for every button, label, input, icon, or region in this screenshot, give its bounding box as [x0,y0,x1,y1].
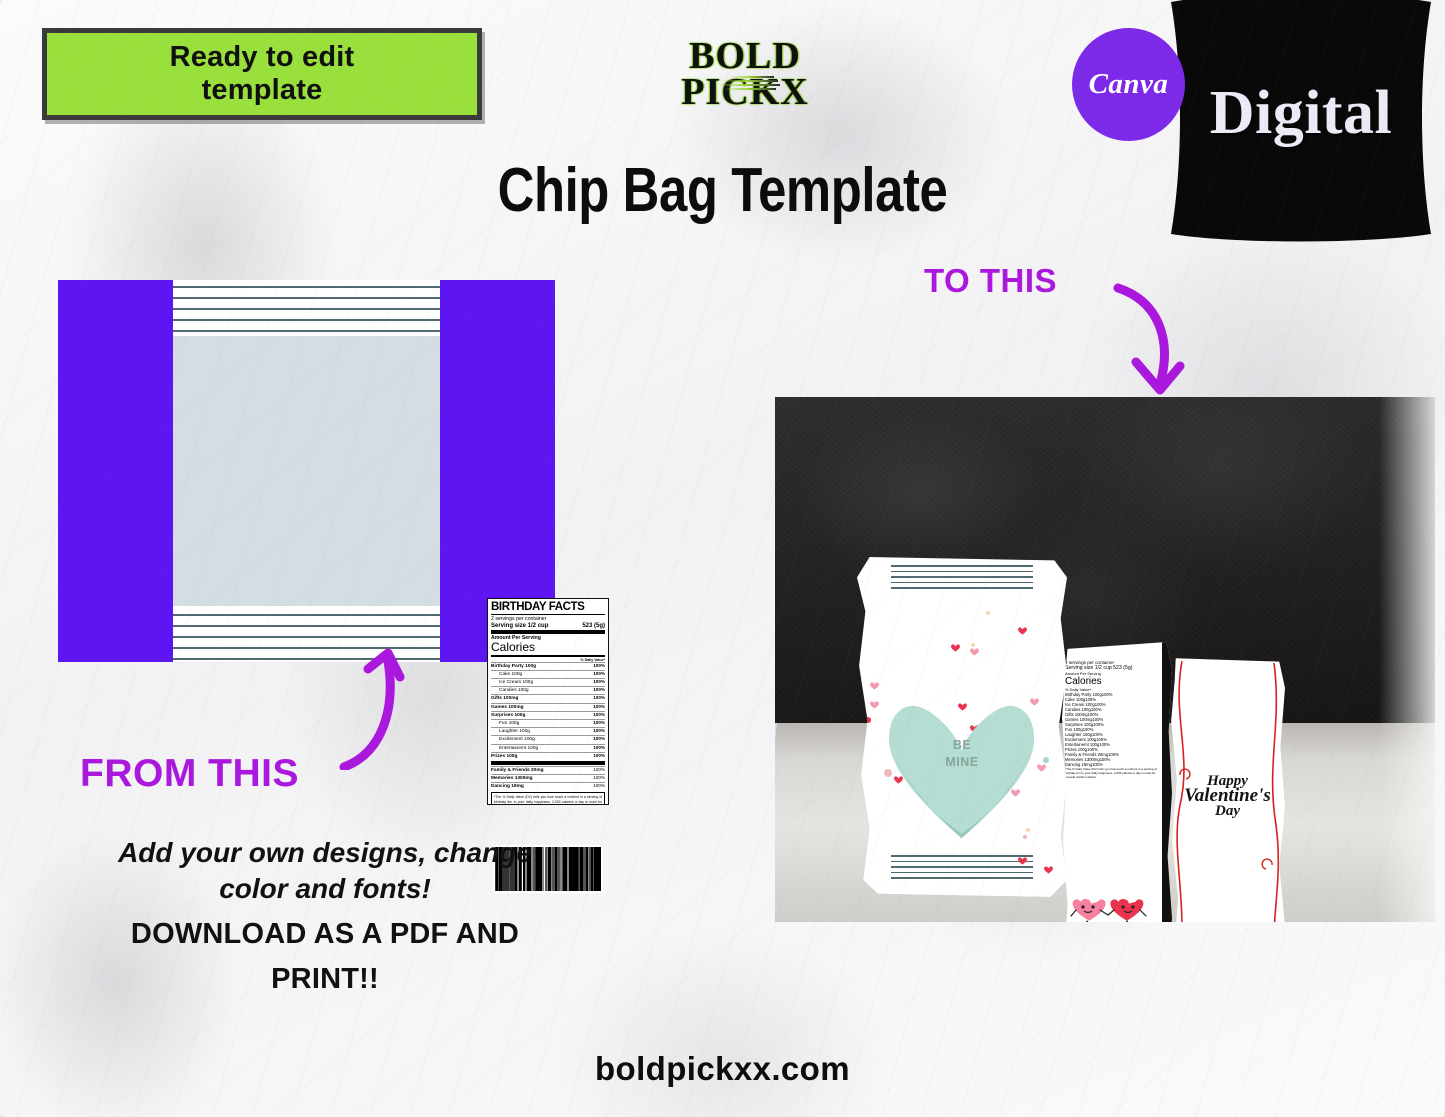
servings-per-container: 2 servings per container [491,616,605,623]
nutrition-row-value: 100% [593,775,605,782]
bag-nutrition-rows-secondary: Family & Friends 20mg100%Memories 1300mg… [1065,752,1165,767]
from-this-label: FROM THIS [80,752,299,796]
nutrition-row-value: 100% [593,704,605,711]
badge-line-1: Ready to edit [170,41,355,74]
nutrition-row-value: 100% [593,720,605,727]
bag-nutrition-footnote: *The % Daily Value (DV) tells you how mu… [1065,767,1165,779]
nutrition-row: Games 100mg100% [491,703,605,711]
nutrition-row-value: 100% [593,687,605,694]
nutrition-row-value: 100% [593,753,605,760]
copy-plain-line-2: PRINT!! [40,961,610,999]
nutrition-row-value: 100% [593,679,605,686]
nutrition-row: Family & Friends 20mg100% [491,766,605,774]
digital-badge-label: Digital [1165,78,1437,149]
nutrition-row-name: Games 100mg [491,704,524,711]
logo-swoosh-icon [714,76,784,98]
brand-logo-line-1: BOLD [640,38,850,74]
badge-line-2: template [170,74,355,107]
page-title: Chip Bag Template [130,155,1315,226]
nutrition-row: Laughter 100g100% [491,727,605,735]
candy-heart-line-2: MINE [857,754,1067,771]
to-this-label: TO THIS [924,262,1057,300]
confetti-heart-icon [870,696,879,704]
candy-heart-text: BE MINE [857,737,1067,771]
copy-plain-line-1: DOWNLOAD AS A PDF AND [40,916,610,954]
nutrition-row-value: 100% [1102,692,1113,697]
nutrition-row-value: 100% [593,728,605,735]
nutrition-row: Cake 100g100% [491,670,605,678]
nutrition-row-value: 100% [593,745,605,752]
serving-size-value: 523 (5g) [582,623,605,629]
confetti-heart-icon [1018,622,1027,630]
nutrition-row-value: 100% [593,663,605,670]
flat-chip-bag-template: BIRTHDAY FACTS 2 servings per container … [58,280,555,662]
nutrition-row-value: 100% [1093,722,1104,727]
nutrition-row: Excitement 100g100% [491,735,605,743]
mockup-bag-front: BE MINE [857,557,1067,897]
nutrition-row-name: Fun 100g [491,720,519,727]
nutrition-title: BIRTHDAY FACTS [491,601,605,613]
mockup-rim-light [1379,397,1435,922]
confetti-heart-icon [870,677,879,685]
nutrition-row-name: Family & Friends 20mg [491,767,544,774]
nutrition-row-value: 100% [593,783,605,790]
nutrition-row-name: Ice Cream 100g [491,679,533,686]
nutrition-row: Gifts 100mg100% [491,694,605,702]
heart-characters-icon [1070,895,1150,922]
mockup-bag-back: 2 servings per container Serving size 1/… [1062,642,1172,922]
nutrition-row-value: 100% [593,767,605,774]
nutrition-row-name: Gifts 100mg [491,695,518,702]
stripe-band-top [173,280,440,336]
nutrition-row-name: Birthday Party 100g [491,663,536,670]
nutrition-row: Birthday Party 100g100% [491,662,605,670]
nutrition-row-value: 100% [593,736,605,743]
confetti-heart-icon [1044,861,1053,869]
bag-calories-label: Calories [1065,676,1165,687]
nutrition-row-name: Surprises 100g [491,712,525,719]
template-center-panel [173,336,440,606]
nutrition-row-name: Entertainemt 100g [491,745,538,752]
nutrition-rows-primary: Birthday Party 100g100%Cake 100g100%Ice … [491,662,605,760]
nutrition-row-value: 100% [593,712,605,719]
valentine-line-3: Day [1174,804,1281,818]
nutrition-row: Memories 1300mg100% [491,774,605,782]
bag-back-nutrition-panel: 2 servings per container Serving size 1/… [1065,660,1165,860]
front-bag-stripes-bottom [891,855,1034,883]
nutrition-row-name: Memories 1300mg [491,775,533,782]
confetti-dot [986,611,990,615]
nutrition-row: Ice Cream 100g100% [491,678,605,686]
nutrition-row-name: Prizes 100g [491,753,517,760]
nutrition-row-value: 100% [593,671,605,678]
confetti-heart-icon [1018,852,1027,860]
calories-label: Calories [491,641,605,654]
nutrition-row-name: Dancing 18mg [491,783,524,790]
arrow-to-this-icon [1110,280,1200,395]
bag-nutrition-rows-primary: Birthday Party 100g100%Cake 100g100%Ice … [1065,692,1165,752]
nutrition-row-value: 100% [1099,742,1110,747]
description-copy: Add your own designs, change color and f… [40,835,610,999]
candy-heart-icon [886,700,1037,843]
page-background: Ready to edit template BOLD PICKX Digita… [0,0,1445,1117]
front-bag-stripes-top [891,565,1034,593]
product-mockup-photo: 2 servings per container Serving size 1/… [775,397,1435,922]
arrow-from-this-icon [330,645,410,770]
nutrition-row: Entertainemt 100g100% [491,744,605,752]
nutrition-row-name: Laughter 100g [491,728,530,735]
confetti-heart-icon [951,639,960,647]
nutrition-row-name: Candies 100g [491,687,529,694]
nutrition-facts-panel: BIRTHDAY FACTS 2 servings per container … [487,598,609,805]
candy-heart-line-1: BE [857,737,1067,754]
nutrition-row-name: Excitement 100g [491,736,535,743]
nutrition-row: Candies 100g100% [491,686,605,694]
footer-website-url: boldpickxx.com [0,1050,1445,1088]
nutrition-row: Dancing 18mg100% [491,782,605,790]
bag-serving-size-value: 523 (5g) [1113,665,1132,671]
nutrition-footnote: *The % Daily Value (DV) tells you how mu… [491,792,605,805]
copy-italic-line-2: color and fonts! [40,871,610,907]
nutrition-rows-secondary: Family & Friends 20mg100%Memories 1300mg… [491,766,605,791]
canva-badge-label: Canva [1089,68,1169,101]
nutrition-row-value: 100% [593,695,605,702]
nutrition-row: Prizes 100g100% [491,752,605,760]
valentine-script-text: Happy Valentine's Day [1174,774,1281,819]
nutrition-row-name: Cake 100g [491,671,522,678]
serving-size-label: Serving size 1/2 cup [491,623,548,629]
mockup-bag-valentine: Happy Valentine's Day [1170,655,1285,922]
brand-logo: BOLD PICKX [640,38,850,111]
copy-italic-line-1: Add your own designs, change [40,835,610,871]
nutrition-row: Surprises 100g100% [491,711,605,719]
nutrition-row: Fun 100g100% [491,719,605,727]
canva-badge: Canva [1072,28,1185,141]
ready-to-edit-badge: Ready to edit template [42,28,482,120]
